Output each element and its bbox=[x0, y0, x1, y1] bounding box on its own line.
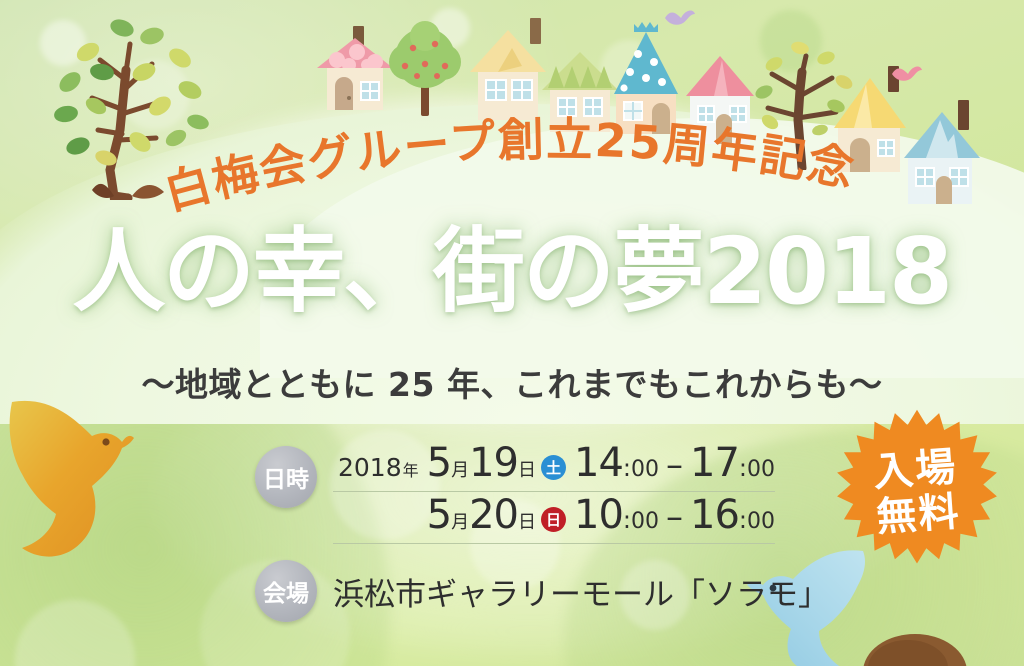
admission-free-badge: 入場 無料 bbox=[832, 408, 1002, 578]
venue-row: 会場 浜松市ギャラリーモール「ソラモ」 bbox=[255, 560, 775, 622]
orange-bird-icon bbox=[0, 390, 175, 570]
date1-day: 19 bbox=[469, 440, 518, 486]
date2-start-hour: 10 bbox=[574, 492, 623, 538]
date1-day-unit: 日 bbox=[518, 456, 536, 482]
admission-free-label: 入場 無料 bbox=[826, 402, 1007, 583]
date2-weekday-badge: 日 bbox=[541, 507, 566, 532]
apple-tree bbox=[385, 18, 465, 123]
date1-month-unit: 月 bbox=[451, 456, 469, 482]
date2-day: 20 bbox=[469, 492, 518, 538]
admission-line-1: 入場 bbox=[872, 445, 959, 496]
event-info: 日時 2018 年 5 月 19 日 土 14 : 00 – 17 : bbox=[255, 440, 775, 622]
date2-start-min: 00 bbox=[631, 509, 659, 534]
date2-end-colon: : bbox=[739, 506, 747, 534]
date2-month-unit: 月 bbox=[451, 508, 469, 534]
brown-bird-icon bbox=[860, 628, 970, 666]
date1-weekday-badge: 土 bbox=[541, 455, 566, 480]
page-subtitle: 〜地域とともに 25 年、これまでもこれからも〜 bbox=[0, 358, 1024, 406]
page-title: 人の幸、街の夢2018 bbox=[0, 226, 1024, 318]
date2-end-min: 00 bbox=[747, 509, 775, 534]
date1-dash: – bbox=[666, 445, 683, 485]
date1-end-hour: 17 bbox=[690, 440, 739, 486]
arched-headline: 白梅会グループ創立25周年記念事業 bbox=[0, 118, 1024, 228]
date2-end-hour: 16 bbox=[690, 492, 739, 538]
date1-year: 2018 bbox=[338, 453, 402, 482]
date1-end-min: 00 bbox=[747, 457, 775, 482]
date1-start-colon: : bbox=[623, 454, 631, 482]
admission-line-2: 無料 bbox=[875, 490, 962, 541]
poster-canvas: 白梅会グループ創立25周年記念事業 人の幸、街の夢2018 〜地域とともに 25… bbox=[0, 0, 1024, 666]
date1-end-colon: : bbox=[739, 454, 747, 482]
date2-start-colon: : bbox=[623, 506, 631, 534]
date1-start-min: 00 bbox=[631, 457, 659, 482]
date-line-1: 2018 年 5 月 19 日 土 14 : 00 – 17 : 00 bbox=[333, 440, 775, 492]
datetime-badge: 日時 bbox=[255, 446, 317, 508]
date2-month: 5 bbox=[427, 492, 451, 538]
datetime-row: 日時 2018 年 5 月 19 日 土 14 : 00 – 17 : bbox=[255, 440, 775, 544]
date1-start-hour: 14 bbox=[574, 440, 623, 486]
date1-year-unit: 年 bbox=[403, 457, 419, 481]
date1-month: 5 bbox=[427, 440, 451, 486]
date2-day-unit: 日 bbox=[518, 508, 536, 534]
datetime-lines: 2018 年 5 月 19 日 土 14 : 00 – 17 : 00 bbox=[333, 440, 775, 544]
venue-name: 浜松市ギャラリーモール「ソラモ」 bbox=[333, 569, 829, 614]
date-line-2: 5 月 20 日 日 10 : 00 – 16 : 00 bbox=[333, 492, 775, 544]
venue-badge: 会場 bbox=[255, 560, 317, 622]
date2-dash: – bbox=[666, 497, 683, 537]
pink-bird-small-icon bbox=[890, 60, 924, 84]
lilac-bird-small-icon bbox=[663, 4, 697, 28]
